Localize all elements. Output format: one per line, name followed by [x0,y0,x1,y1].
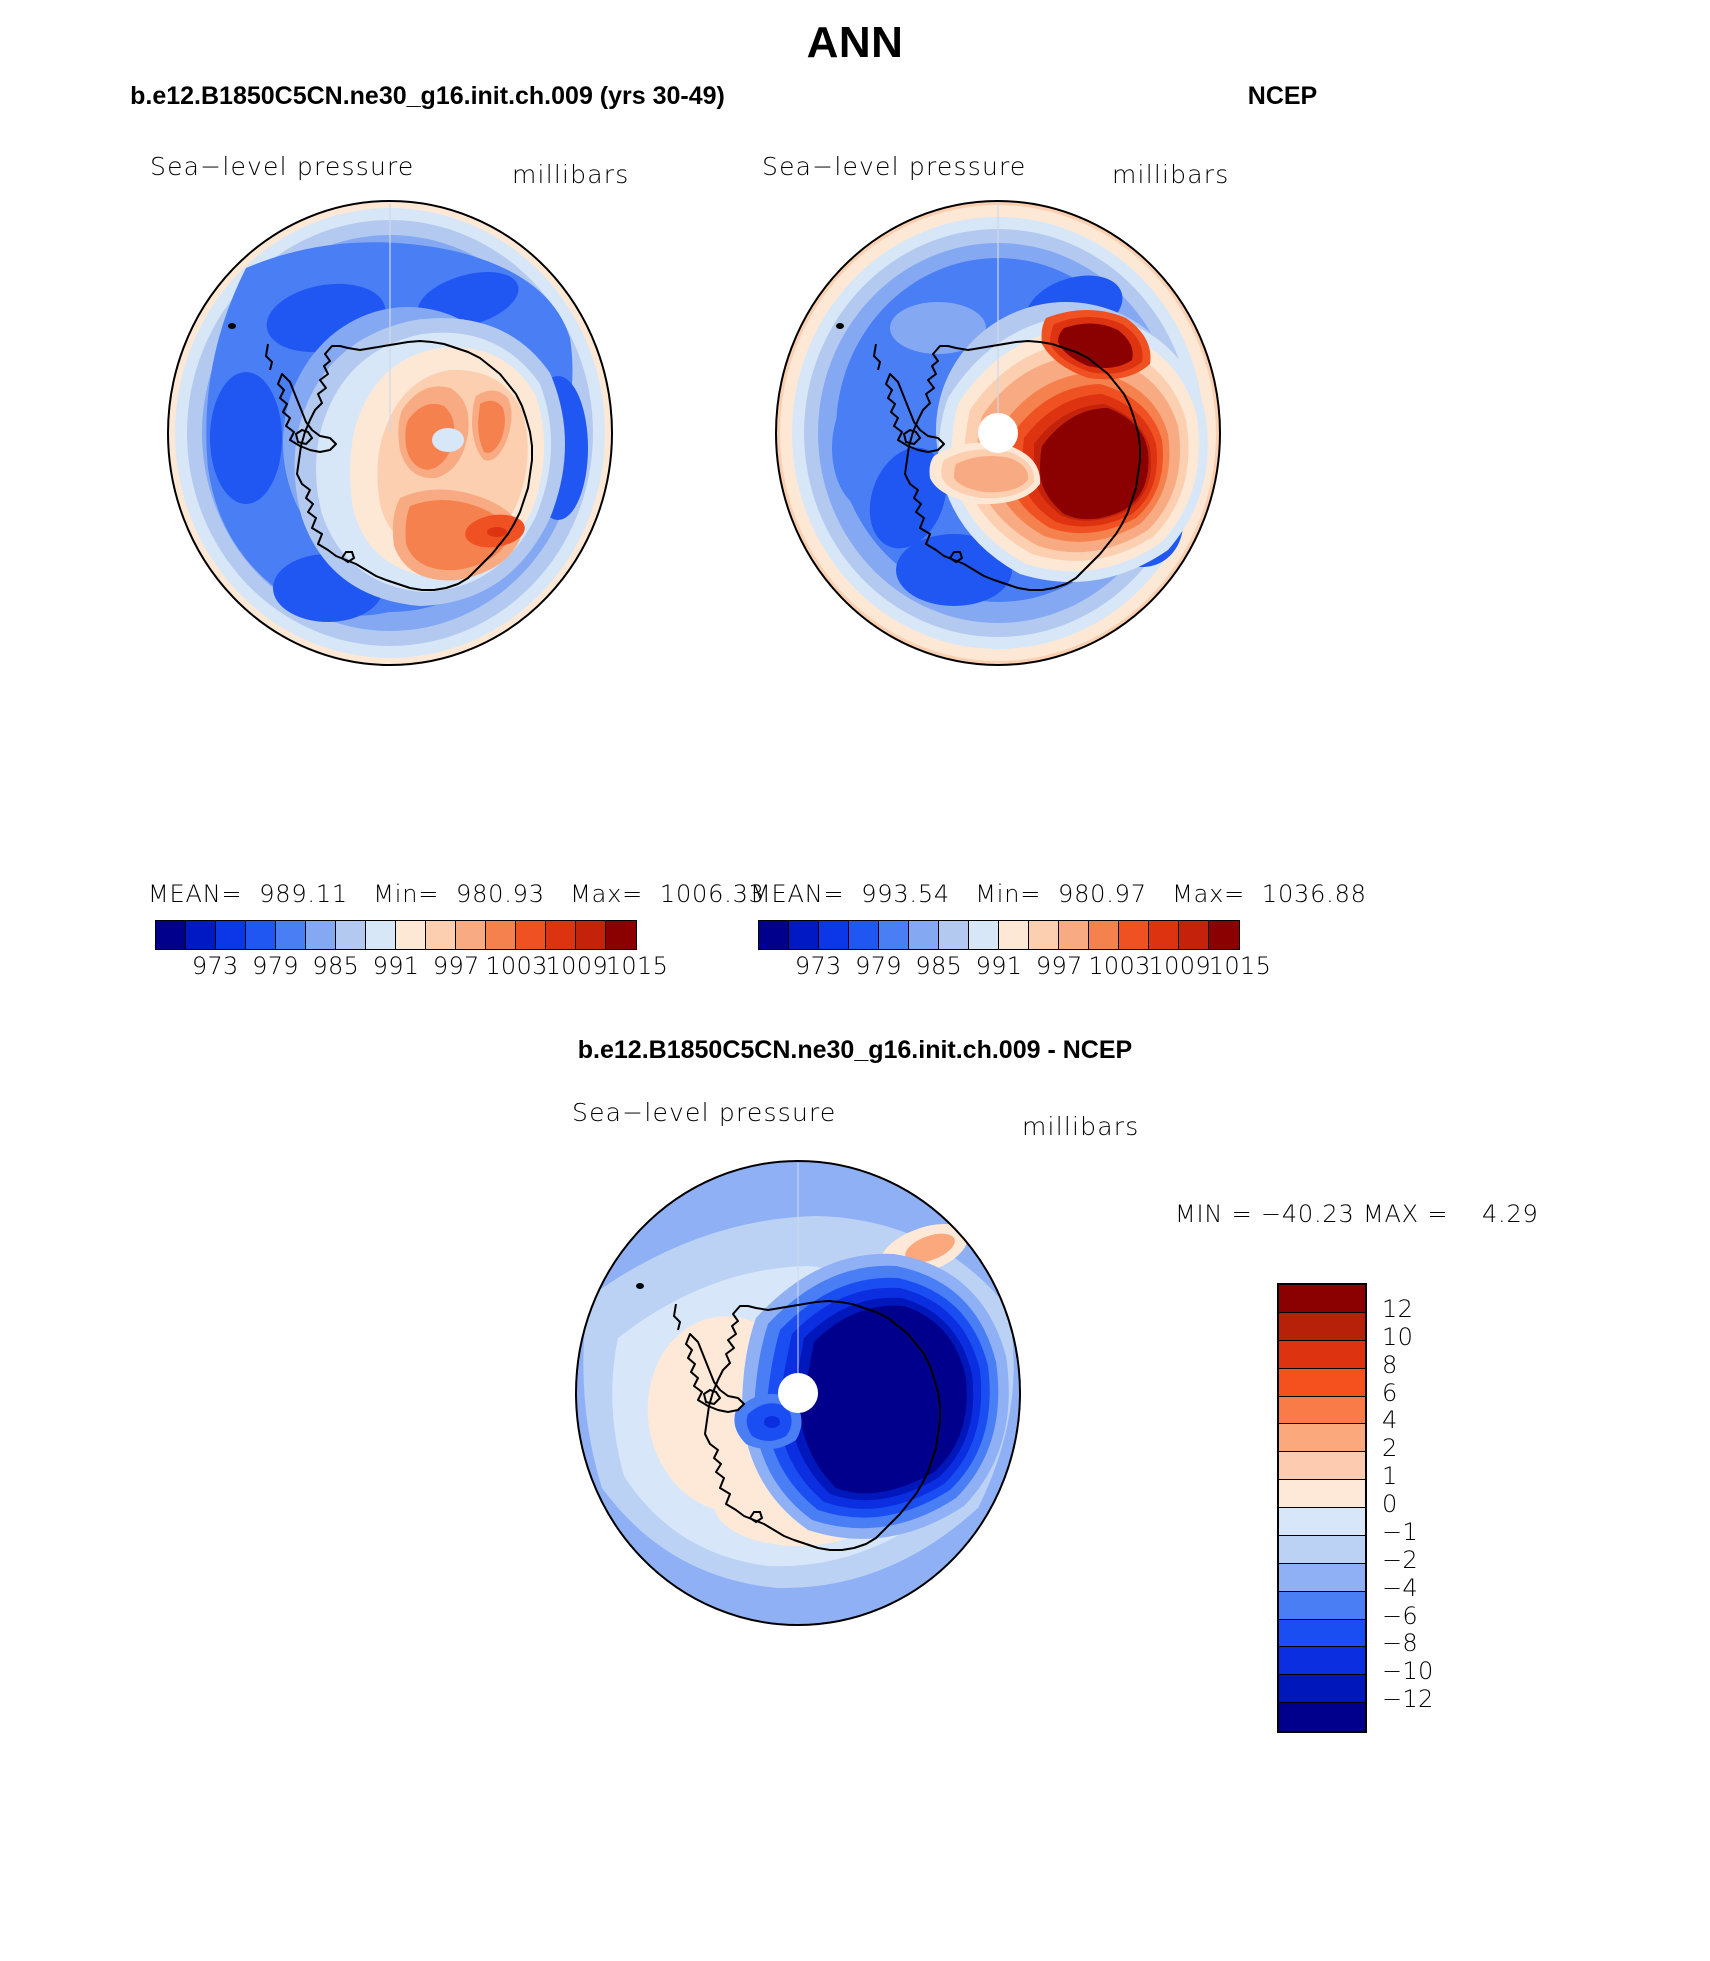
colorbar-tick-label: 1009 [1146,952,1214,980]
colorbar-swatch [516,921,546,949]
colorbar-tick-label: −2 [1382,1546,1418,1574]
colorbar-swatch [306,921,336,949]
colorbar-tick-label: 1015 [603,952,671,980]
colorbar-tick-label: 973 [181,952,249,980]
colorbar-swatch [336,921,366,949]
diff-colorbar-ticks: 1210864210−1−2−4−6−8−10−12 [1382,1283,1492,1729]
colorbar-tick-label: 1003 [1086,952,1154,980]
obs-map[interactable] [758,198,1238,668]
diff-map-svg [558,1158,1038,1628]
colorbar-tick-label: 997 [1025,952,1093,980]
colorbar-tick-label: 985 [905,952,973,980]
colorbar-tick-label: 8 [1382,1351,1398,1379]
colorbar-swatch [999,921,1029,949]
colorbar-swatch [789,921,819,949]
model-map-svg [150,198,630,668]
colorbar-tick-label: 1 [1382,1462,1398,1490]
model-map[interactable] [150,198,630,668]
colorbar-tick-label: −8 [1382,1629,1418,1657]
colorbar-swatch [1029,921,1059,949]
colorbar-tick-label: 991 [965,952,1033,980]
model-panel-title: b.e12.B1850C5CN.ne30_g16.init.ch.009 (yr… [0,82,855,111]
colorbar-tick-label: 979 [845,952,913,980]
diff-stats: MIN = −40.23 MAX = 4.29 [1175,1200,1539,1228]
diff-panel-title: b.e12.B1850C5CN.ne30_g16.init.ch.009 - N… [0,1036,1710,1065]
obs-variable-label: Sea−level pressure [762,152,1027,181]
colorbar-swatch [1119,921,1149,949]
model-variable-label: Sea−level pressure [150,152,415,181]
obs-colorbar[interactable] [758,920,1240,950]
colorbar-tick-label: 979 [242,952,310,980]
colorbar-tick-label: −6 [1382,1602,1418,1630]
colorbar-swatch [1209,921,1239,949]
colorbar-swatch [1279,1647,1365,1675]
colorbar-tick-label: 0 [1382,1490,1398,1518]
colorbar-tick-label: 12 [1382,1295,1413,1323]
colorbar-tick-label: 4 [1382,1406,1398,1434]
colorbar-swatch [1279,1285,1365,1313]
colorbar-tick-label: 985 [302,952,370,980]
colorbar-swatch [1279,1452,1365,1480]
colorbar-swatch [1279,1675,1365,1703]
model-colorbar[interactable] [155,920,637,950]
colorbar-swatch [879,921,909,949]
colorbar-tick-label: 10 [1382,1323,1413,1351]
obs-stats: MEAN= 993.54 Min= 980.97 Max= 1036.88 [750,880,1367,908]
colorbar-tick-label: −4 [1382,1574,1418,1602]
colorbar-swatch [1279,1703,1365,1731]
model-colorbar-ticks: 973979985991997100310091015 [155,952,635,982]
model-units-label: millibars [512,160,629,189]
model-stats: MEAN= 989.11 Min= 980.93 Max= 1006.33 [148,880,765,908]
colorbar-tick-label: 1003 [483,952,551,980]
colorbar-swatch [1279,1341,1365,1369]
colorbar-swatch [1279,1424,1365,1452]
colorbar-swatch [819,921,849,949]
colorbar-swatch [909,921,939,949]
colorbar-swatch [426,921,456,949]
colorbar-swatch [486,921,516,949]
colorbar-tick-label: −10 [1382,1657,1434,1685]
colorbar-tick-label: 6 [1382,1379,1398,1407]
colorbar-swatch [849,921,879,949]
colorbar-swatch [1279,1592,1365,1620]
colorbar-swatch [456,921,486,949]
diff-variable-label: Sea−level pressure [572,1098,837,1127]
diff-units-label: millibars [1022,1112,1139,1141]
colorbar-swatch [1149,921,1179,949]
colorbar-swatch [1089,921,1119,949]
colorbar-tick-label: 997 [422,952,490,980]
colorbar-tick-label: −1 [1382,1518,1418,1546]
colorbar-swatch [396,921,426,949]
colorbar-swatch [216,921,246,949]
colorbar-tick-label: 991 [362,952,430,980]
colorbar-swatch [576,921,606,949]
colorbar-swatch [1279,1313,1365,1341]
obs-panel-title: NCEP [855,82,1710,111]
colorbar-swatch [246,921,276,949]
colorbar-tick-label: −12 [1382,1685,1434,1713]
colorbar-swatch [939,921,969,949]
obs-map-svg [758,198,1238,668]
diff-colorbar[interactable] [1277,1283,1367,1733]
colorbar-swatch [1279,1564,1365,1592]
colorbar-swatch [366,921,396,949]
colorbar-tick-label: 973 [784,952,852,980]
colorbar-swatch [759,921,789,949]
colorbar-swatch [969,921,999,949]
colorbar-swatch [1059,921,1089,949]
colorbar-swatch [1279,1508,1365,1536]
obs-colorbar-ticks: 973979985991997100310091015 [758,952,1238,982]
colorbar-tick-label: 1015 [1206,952,1274,980]
colorbar-swatch [156,921,186,949]
colorbar-swatch [186,921,216,949]
colorbar-swatch [1279,1397,1365,1425]
colorbar-tick-label: 1009 [543,952,611,980]
colorbar-swatch [1279,1480,1365,1508]
obs-units-label: millibars [1112,160,1229,189]
colorbar-tick-label: 2 [1382,1434,1398,1462]
colorbar-swatch [546,921,576,949]
colorbar-swatch [1279,1369,1365,1397]
colorbar-swatch [1279,1536,1365,1564]
diff-map[interactable] [558,1158,1038,1628]
colorbar-swatch [1279,1620,1365,1648]
colorbar-swatch [1179,921,1209,949]
colorbar-swatch [276,921,306,949]
colorbar-swatch [606,921,636,949]
season-title: ANN [0,18,1710,68]
